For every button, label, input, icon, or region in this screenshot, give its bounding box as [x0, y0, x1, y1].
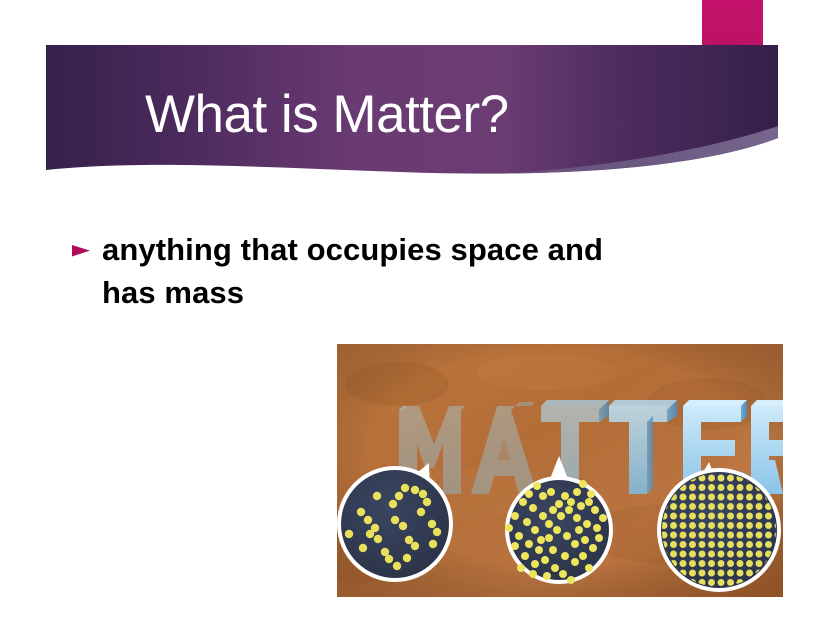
page-title: What is Matter?: [145, 84, 705, 146]
presentation-slide: What is Matter? anything that occupies s…: [0, 0, 828, 621]
triangle-right-bullet-icon: [70, 228, 102, 260]
magenta-accent-tab: [702, 0, 763, 108]
slide-body: anything that occupies space and has mas…: [70, 228, 770, 314]
letter-R: [751, 400, 783, 494]
list-item: anything that occupies space and has mas…: [70, 228, 770, 314]
matter-states-image: [337, 344, 783, 597]
bullet-text: anything that occupies space and has mas…: [102, 228, 622, 314]
